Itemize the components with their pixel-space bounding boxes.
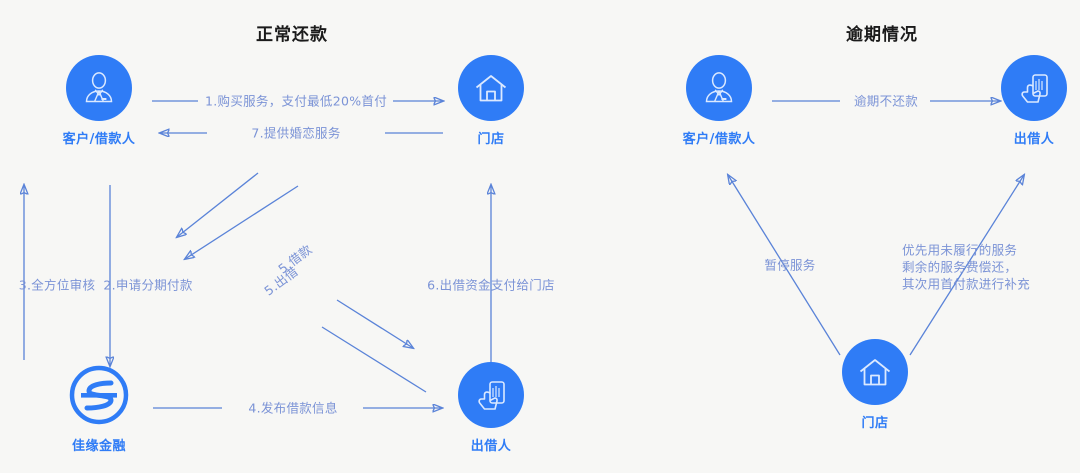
node-label: 门店 bbox=[427, 128, 555, 147]
edge-label-suspend-service: 暂停服务 bbox=[764, 257, 815, 274]
node-label: 门店 bbox=[811, 412, 939, 431]
node-label: 客户/借款人 bbox=[655, 128, 783, 147]
house-icon bbox=[458, 55, 524, 121]
node-label: 佳缘金融 bbox=[35, 435, 163, 454]
compensation-note-line-1: 优先用未履行的服务 bbox=[902, 242, 1030, 259]
node-store-overdue[interactable]: 门店 bbox=[811, 339, 939, 431]
node-label: 客户/借款人 bbox=[35, 128, 163, 147]
node-customer-borrower[interactable]: 客户/借款人 bbox=[35, 55, 163, 147]
panel-title-normal: 正常还款 bbox=[256, 20, 328, 45]
edge-label-full-review: 3.全方位审核 bbox=[19, 277, 96, 294]
node-store[interactable]: 门店 bbox=[427, 55, 555, 147]
node-lender[interactable]: 出借人 bbox=[427, 362, 555, 454]
compensation-note-line-2: 剩余的服务费偿还， bbox=[902, 259, 1030, 276]
hand-phone-icon bbox=[1001, 55, 1067, 121]
node-jiayuan-finance[interactable]: 佳缘金融 bbox=[35, 362, 163, 454]
node-label: 出借人 bbox=[970, 128, 1080, 147]
edge-label-apply-installment: 2.申请分期付款 bbox=[103, 277, 192, 294]
jiayuan-finance-logo-icon bbox=[66, 362, 132, 428]
edge-label-compensation-note: 优先用未履行的服务 剩余的服务费偿还， 其次用首付款进行补充 bbox=[902, 242, 1030, 293]
compensation-note-line-3: 其次用首付款进行补充 bbox=[902, 276, 1030, 293]
edge-label-provide-matchmaking: 7.提供婚恋服务 bbox=[251, 125, 340, 142]
edge-label-overdue-no-repay: 逾期不还款 bbox=[854, 93, 918, 110]
person-suit-icon bbox=[66, 55, 132, 121]
diagram-canvas: 正常还款 逾期情况 客户/借款人 门店 bbox=[0, 0, 1080, 473]
person-suit-icon bbox=[686, 55, 752, 121]
node-customer-borrower-overdue[interactable]: 客户/借款人 bbox=[655, 55, 783, 147]
node-label: 出借人 bbox=[427, 435, 555, 454]
node-lender-overdue[interactable]: 出借人 bbox=[970, 55, 1080, 147]
edge-label-purchase-service: 1.购买服务，支付最低20%首付 bbox=[205, 93, 387, 110]
edge-label-funds-to-store: 6.出借资金支付给门店 bbox=[427, 277, 555, 294]
edge-label-publish-loan-info: 4.发布借款信息 bbox=[248, 400, 337, 417]
hand-phone-icon bbox=[458, 362, 524, 428]
house-icon bbox=[842, 339, 908, 405]
panel-title-overdue: 逾期情况 bbox=[846, 20, 918, 45]
